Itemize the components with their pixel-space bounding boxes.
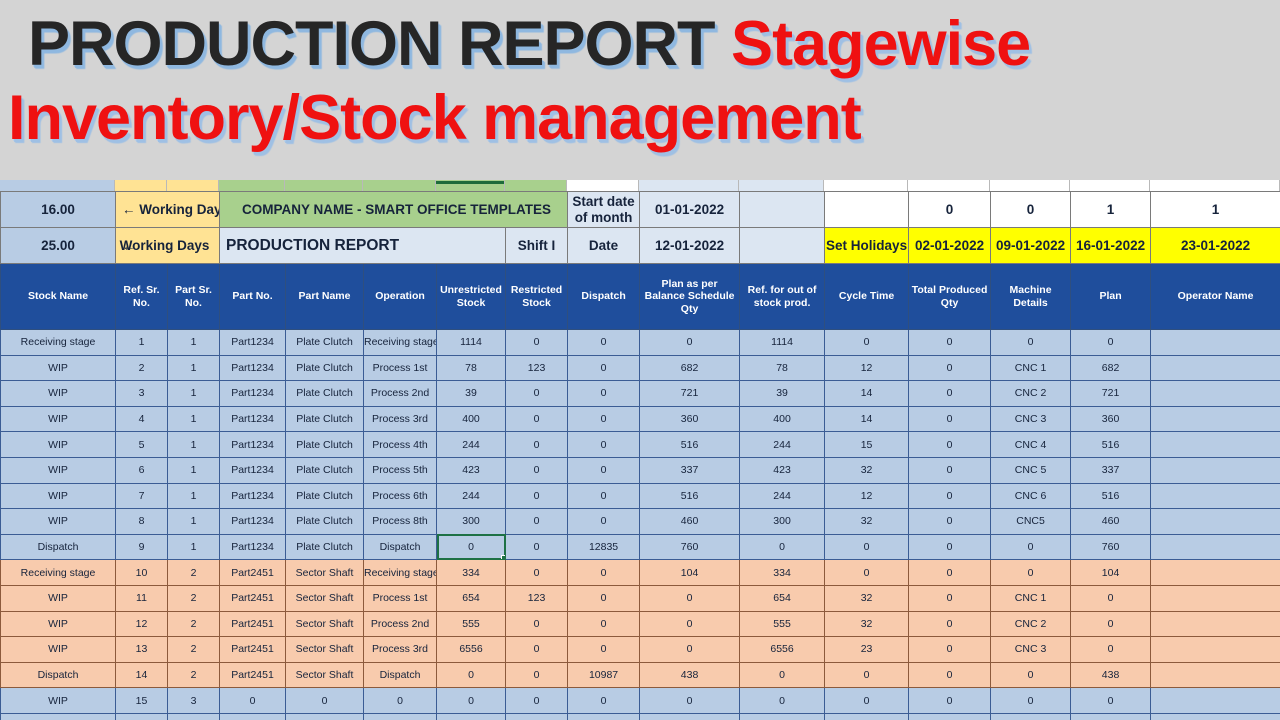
cell-1-11[interactable]: 12 [825,355,909,381]
cell-3-9[interactable]: 360 [640,406,740,432]
cell-12-2[interactable]: 2 [168,637,220,663]
cell-1-0[interactable]: WIP [1,355,116,381]
cell-3-1[interactable]: 4 [116,406,168,432]
cell-6-11[interactable]: 12 [825,483,909,509]
cell-6-5[interactable]: Process 6th [364,483,437,509]
cell-6-6[interactable]: 244 [437,483,506,509]
info1-cycle-blank[interactable] [825,192,909,228]
cell-14-8[interactable]: 0 [568,688,640,714]
cell-5-14[interactable]: 337 [1071,457,1151,483]
table-row[interactable]: WIP81Part1234Plate ClutchProcess 8th3000… [1,509,1280,535]
cell-4-0[interactable]: WIP [1,432,116,458]
cell-7-7[interactable]: 0 [506,509,568,535]
cell-14-4[interactable]: 0 [286,688,364,714]
spreadsheet-area[interactable]: 16.00 ← Working Days Left COMPANY NAME -… [0,180,1280,720]
cell-9-3[interactable]: Part2451 [220,560,286,586]
column-header-ref-sr-no[interactable]: Ref. Sr. No. [116,264,168,330]
cell-11-14[interactable]: 0 [1071,611,1151,637]
cell-11-6[interactable]: 555 [437,611,506,637]
cell-7-14[interactable]: 460 [1071,509,1151,535]
cell-3-5[interactable]: Process 3rd [364,406,437,432]
cell-6-14[interactable]: 516 [1071,483,1151,509]
holiday-count-1[interactable]: 0 [909,192,991,228]
cell-9-14[interactable]: 104 [1071,560,1151,586]
production-report-table[interactable]: 16.00 ← Working Days Left COMPANY NAME -… [0,191,1280,720]
column-header-operator-name[interactable]: Operator Name [1151,264,1280,330]
cell-13-14[interactable]: 438 [1071,662,1151,688]
cell-15-7[interactable]: 0 [506,713,568,720]
cell-13-11[interactable]: 0 [825,662,909,688]
column-header-total-produced-qty[interactable]: Total Produced Qty [909,264,991,330]
cell-15-6[interactable]: 0 [437,713,506,720]
cell-14-2[interactable]: 3 [168,688,220,714]
table-row[interactable]: WIP153000000000000 [1,688,1280,714]
cell-15-10[interactable]: 0 [740,713,825,720]
cell-0-7[interactable]: 0 [506,330,568,356]
cell-2-12[interactable]: 0 [909,381,991,407]
cell-3-11[interactable]: 14 [825,406,909,432]
column-header-plan-as-per-balance-schedule-qty[interactable]: Plan as per Balance Schedule Qty [640,264,740,330]
holiday-count-4[interactable]: 1 [1151,192,1280,228]
cell-0-2[interactable]: 1 [168,330,220,356]
cell-12-1[interactable]: 13 [116,637,168,663]
cell-4-8[interactable]: 0 [568,432,640,458]
cell-9-5[interactable]: Receiving stage [364,560,437,586]
cell-5-10[interactable]: 423 [740,457,825,483]
cell-10-8[interactable]: 0 [568,585,640,611]
cell-9-6[interactable]: 334 [437,560,506,586]
cell-5-7[interactable]: 0 [506,457,568,483]
cell-7-11[interactable]: 32 [825,509,909,535]
cell-8-5[interactable]: Dispatch [364,534,437,560]
cell-8-10[interactable]: 0 [740,534,825,560]
cell-1-12[interactable]: 0 [909,355,991,381]
table-row[interactable]: WIP31Part1234Plate ClutchProcess 2nd3900… [1,381,1280,407]
cell-1-4[interactable]: Plate Clutch [286,355,364,381]
cell-1-3[interactable]: Part1234 [220,355,286,381]
cell-12-10[interactable]: 6556 [740,637,825,663]
cell-3-2[interactable]: 1 [168,406,220,432]
cell-4-10[interactable]: 244 [740,432,825,458]
column-header-stock-name[interactable]: Stock Name [1,264,116,330]
cell-10-10[interactable]: 654 [740,585,825,611]
holiday-count-3[interactable]: 1 [1071,192,1151,228]
table-row[interactable]: WIP51Part1234Plate ClutchProcess 4th2440… [1,432,1280,458]
working-days-left-value[interactable]: 16.00 [1,192,116,228]
column-header-part-sr-no[interactable]: Part Sr. No. [168,264,220,330]
table-row[interactable]: WIP41Part1234Plate ClutchProcess 3rd4000… [1,406,1280,432]
cell-7-5[interactable]: Process 8th [364,509,437,535]
cell-2-7[interactable]: 0 [506,381,568,407]
cell-13-3[interactable]: Part2451 [220,662,286,688]
cell-1-15[interactable] [1151,355,1280,381]
start-date-value[interactable]: 01-01-2022 [640,192,740,228]
cell-0-13[interactable]: 0 [991,330,1071,356]
cell-10-7[interactable]: 123 [506,585,568,611]
cell-1-2[interactable]: 1 [168,355,220,381]
cell-5-12[interactable]: 0 [909,457,991,483]
cell-11-5[interactable]: Process 2nd [364,611,437,637]
cell-2-0[interactable]: WIP [1,381,116,407]
cell-8-14[interactable]: 760 [1071,534,1151,560]
cell-15-12[interactable]: 0 [909,713,991,720]
cell-5-5[interactable]: Process 5th [364,457,437,483]
cell-5-1[interactable]: 6 [116,457,168,483]
cell-3-7[interactable]: 0 [506,406,568,432]
set-holidays-label[interactable]: Set Holidays [825,228,909,264]
cell-1-5[interactable]: Process 1st [364,355,437,381]
cell-15-8[interactable]: 0 [568,713,640,720]
cell-0-3[interactable]: Part1234 [220,330,286,356]
cell-10-12[interactable]: 0 [909,585,991,611]
cell-4-5[interactable]: Process 4th [364,432,437,458]
cell-9-11[interactable]: 0 [825,560,909,586]
cell-13-1[interactable]: 14 [116,662,168,688]
column-header-ref-for-out-of-stock-prod[interactable]: Ref. for out of stock prod. [740,264,825,330]
cell-4-2[interactable]: 1 [168,432,220,458]
cell-15-2[interactable]: 3 [168,713,220,720]
cell-11-3[interactable]: Part2451 [220,611,286,637]
table-row[interactable]: WIP71Part1234Plate ClutchProcess 6th2440… [1,483,1280,509]
cell-3-6[interactable]: 400 [437,406,506,432]
cell-4-14[interactable]: 516 [1071,432,1151,458]
cell-8-2[interactable]: 1 [168,534,220,560]
cell-8-0[interactable]: Dispatch [1,534,116,560]
cell-1-6[interactable]: 78 [437,355,506,381]
cell-2-2[interactable]: 1 [168,381,220,407]
cell-1-13[interactable]: CNC 1 [991,355,1071,381]
cell-11-15[interactable] [1151,611,1280,637]
cell-5-8[interactable]: 0 [568,457,640,483]
cell-6-15[interactable] [1151,483,1280,509]
cell-7-1[interactable]: 8 [116,509,168,535]
cell-3-4[interactable]: Plate Clutch [286,406,364,432]
table-body[interactable]: Receiving stage11Part1234Plate ClutchRec… [1,330,1280,720]
cell-9-8[interactable]: 0 [568,560,640,586]
cell-15-4[interactable]: 0 [286,713,364,720]
cell-7-4[interactable]: Plate Clutch [286,509,364,535]
cell-7-15[interactable] [1151,509,1280,535]
cell-11-10[interactable]: 555 [740,611,825,637]
cell-12-8[interactable]: 0 [568,637,640,663]
cell-10-0[interactable]: WIP [1,585,116,611]
cell-2-10[interactable]: 39 [740,381,825,407]
info2-ref-blank[interactable] [740,228,825,264]
cell-12-7[interactable]: 0 [506,637,568,663]
cell-9-7[interactable]: 0 [506,560,568,586]
holiday-date-2[interactable]: 09-01-2022 [991,228,1071,264]
cell-13-12[interactable]: 0 [909,662,991,688]
cell-5-4[interactable]: Plate Clutch [286,457,364,483]
cell-6-9[interactable]: 516 [640,483,740,509]
cell-3-13[interactable]: CNC 3 [991,406,1071,432]
cell-1-10[interactable]: 78 [740,355,825,381]
cell-0-12[interactable]: 0 [909,330,991,356]
info1-ref-blank[interactable] [740,192,825,228]
cell-10-5[interactable]: Process 1st [364,585,437,611]
cell-11-13[interactable]: CNC 2 [991,611,1071,637]
column-header-cycle-time[interactable]: Cycle Time [825,264,909,330]
cell-8-13[interactable]: 0 [991,534,1071,560]
cell-12-4[interactable]: Sector Shaft [286,637,364,663]
cell-0-4[interactable]: Plate Clutch [286,330,364,356]
cell-4-9[interactable]: 516 [640,432,740,458]
cell-1-1[interactable]: 2 [116,355,168,381]
cell-2-14[interactable]: 721 [1071,381,1151,407]
holiday-date-4[interactable]: 23-01-2022 [1151,228,1280,264]
column-header-machine-details[interactable]: Machine Details [991,264,1071,330]
company-name-cell[interactable]: COMPANY NAME - SMART OFFICE TEMPLATES [220,192,568,228]
cell-14-0[interactable]: WIP [1,688,116,714]
cell-8-7[interactable]: 0 [506,534,568,560]
cell-14-1[interactable]: 15 [116,688,168,714]
cell-0-5[interactable]: Receiving stage [364,330,437,356]
cell-10-1[interactable]: 11 [116,585,168,611]
cell-4-6[interactable]: 244 [437,432,506,458]
cell-7-8[interactable]: 0 [568,509,640,535]
cell-4-15[interactable] [1151,432,1280,458]
cell-9-1[interactable]: 10 [116,560,168,586]
cell-10-11[interactable]: 32 [825,585,909,611]
cell-7-2[interactable]: 1 [168,509,220,535]
report-title-cell[interactable]: PRODUCTION REPORT [220,228,506,264]
cell-12-12[interactable]: 0 [909,637,991,663]
cell-6-10[interactable]: 244 [740,483,825,509]
cell-11-2[interactable]: 2 [168,611,220,637]
cell-14-10[interactable]: 0 [740,688,825,714]
shift-cell[interactable]: Shift I [506,228,568,264]
cell-11-4[interactable]: Sector Shaft [286,611,364,637]
column-header-unrestricted-stock[interactable]: Unrestricted Stock [437,264,506,330]
cell-4-11[interactable]: 15 [825,432,909,458]
column-header-dispatch[interactable]: Dispatch [568,264,640,330]
cell-5-13[interactable]: CNC 5 [991,457,1071,483]
cell-5-15[interactable] [1151,457,1280,483]
cell-10-9[interactable]: 0 [640,585,740,611]
cell-13-2[interactable]: 2 [168,662,220,688]
cell-2-9[interactable]: 721 [640,381,740,407]
cell-14-15[interactable] [1151,688,1280,714]
cell-4-13[interactable]: CNC 4 [991,432,1071,458]
cell-15-14[interactable]: 0 [1071,713,1151,720]
table-row[interactable]: WIP21Part1234Plate ClutchProcess 1st7812… [1,355,1280,381]
cell-10-3[interactable]: Part2451 [220,585,286,611]
holiday-count-2[interactable]: 0 [991,192,1071,228]
cell-5-2[interactable]: 1 [168,457,220,483]
cell-13-4[interactable]: Sector Shaft [286,662,364,688]
cell-14-11[interactable]: 0 [825,688,909,714]
cell-11-7[interactable]: 0 [506,611,568,637]
cell-7-13[interactable]: CNC5 [991,509,1071,535]
cell-1-8[interactable]: 0 [568,355,640,381]
cell-2-6[interactable]: 39 [437,381,506,407]
cell-11-8[interactable]: 0 [568,611,640,637]
holiday-date-3[interactable]: 16-01-2022 [1071,228,1151,264]
table-row[interactable]: Dispatch91Part1234Plate ClutchDispatch00… [1,534,1280,560]
cell-12-11[interactable]: 23 [825,637,909,663]
cell-6-1[interactable]: 7 [116,483,168,509]
cell-3-10[interactable]: 400 [740,406,825,432]
cell-0-0[interactable]: Receiving stage [1,330,116,356]
cell-11-9[interactable]: 0 [640,611,740,637]
cell-9-0[interactable]: Receiving stage [1,560,116,586]
cell-0-8[interactable]: 0 [568,330,640,356]
cell-6-12[interactable]: 0 [909,483,991,509]
cell-4-7[interactable]: 0 [506,432,568,458]
cell-9-12[interactable]: 0 [909,560,991,586]
cell-1-9[interactable]: 682 [640,355,740,381]
cell-13-7[interactable]: 0 [506,662,568,688]
cell-12-3[interactable]: Part2451 [220,637,286,663]
cell-9-2[interactable]: 2 [168,560,220,586]
cell-11-0[interactable]: WIP [1,611,116,637]
table-row[interactable]: Dispatch142Part2451Sector ShaftDispatch0… [1,662,1280,688]
column-header-restricted-stock[interactable]: Restricted Stock [506,264,568,330]
cell-3-15[interactable] [1151,406,1280,432]
cell-14-12[interactable]: 0 [909,688,991,714]
cell-14-13[interactable]: 0 [991,688,1071,714]
cell-7-3[interactable]: Part1234 [220,509,286,535]
cell-15-9[interactable]: 0 [640,713,740,720]
cell-10-2[interactable]: 2 [168,585,220,611]
cell-15-0[interactable]: WIP [1,713,116,720]
cell-15-15[interactable] [1151,713,1280,720]
cell-9-4[interactable]: Sector Shaft [286,560,364,586]
cell-14-14[interactable]: 0 [1071,688,1151,714]
cell-8-9[interactable]: 760 [640,534,740,560]
cell-1-7[interactable]: 123 [506,355,568,381]
cell-0-1[interactable]: 1 [116,330,168,356]
cell-4-12[interactable]: 0 [909,432,991,458]
cell-13-10[interactable]: 0 [740,662,825,688]
cell-9-13[interactable]: 0 [991,560,1071,586]
cell-13-8[interactable]: 10987 [568,662,640,688]
cell-15-1[interactable]: 16 [116,713,168,720]
cell-2-8[interactable]: 0 [568,381,640,407]
table-row[interactable]: WIP112Part2451Sector ShaftProcess 1st654… [1,585,1280,611]
cell-12-0[interactable]: WIP [1,637,116,663]
cell-15-3[interactable]: 0 [220,713,286,720]
cell-12-14[interactable]: 0 [1071,637,1151,663]
table-row[interactable]: WIP61Part1234Plate ClutchProcess 5th4230… [1,457,1280,483]
cell-7-10[interactable]: 300 [740,509,825,535]
cell-2-5[interactable]: Process 2nd [364,381,437,407]
cell-1-14[interactable]: 682 [1071,355,1151,381]
cell-0-15[interactable] [1151,330,1280,356]
cell-5-11[interactable]: 32 [825,457,909,483]
cell-6-2[interactable]: 1 [168,483,220,509]
cell-10-6[interactable]: 654 [437,585,506,611]
cell-8-4[interactable]: Plate Clutch [286,534,364,560]
selected-cell[interactable]: 0 [437,534,506,560]
cell-8-11[interactable]: 0 [825,534,909,560]
cell-10-14[interactable]: 0 [1071,585,1151,611]
cell-2-11[interactable]: 14 [825,381,909,407]
cell-8-8[interactable]: 12835 [568,534,640,560]
cell-2-13[interactable]: CNC 2 [991,381,1071,407]
cell-4-4[interactable]: Plate Clutch [286,432,364,458]
cell-11-11[interactable]: 32 [825,611,909,637]
cell-12-9[interactable]: 0 [640,637,740,663]
cell-10-4[interactable]: Sector Shaft [286,585,364,611]
cell-6-4[interactable]: Plate Clutch [286,483,364,509]
cell-13-13[interactable]: 0 [991,662,1071,688]
date-value[interactable]: 12-01-2022 [640,228,740,264]
cell-0-9[interactable]: 0 [640,330,740,356]
cell-9-15[interactable] [1151,560,1280,586]
column-header-operation[interactable]: Operation [364,264,437,330]
cell-5-0[interactable]: WIP [1,457,116,483]
holiday-date-1[interactable]: 02-01-2022 [909,228,991,264]
cell-8-1[interactable]: 9 [116,534,168,560]
cell-15-11[interactable]: 0 [825,713,909,720]
cell-5-3[interactable]: Part1234 [220,457,286,483]
cell-0-14[interactable]: 0 [1071,330,1151,356]
column-header-plan[interactable]: Plan [1071,264,1151,330]
cell-3-12[interactable]: 0 [909,406,991,432]
cell-7-6[interactable]: 300 [437,509,506,535]
cell-3-14[interactable]: 360 [1071,406,1151,432]
cell-2-15[interactable] [1151,381,1280,407]
cell-15-13[interactable]: 0 [991,713,1071,720]
cell-0-10[interactable]: 1114 [740,330,825,356]
cell-3-8[interactable]: 0 [568,406,640,432]
cell-12-5[interactable]: Process 3rd [364,637,437,663]
cell-6-13[interactable]: CNC 6 [991,483,1071,509]
cell-0-11[interactable]: 0 [825,330,909,356]
cell-5-6[interactable]: 423 [437,457,506,483]
cell-10-13[interactable]: CNC 1 [991,585,1071,611]
cell-2-3[interactable]: Part1234 [220,381,286,407]
cell-14-5[interactable]: 0 [364,688,437,714]
table-row[interactable]: WIP163000000000000 [1,713,1280,720]
column-header-part-no[interactable]: Part No. [220,264,286,330]
cell-4-1[interactable]: 5 [116,432,168,458]
cell-13-15[interactable] [1151,662,1280,688]
cell-8-15[interactable] [1151,534,1280,560]
cell-10-15[interactable] [1151,585,1280,611]
column-header-part-name[interactable]: Part Name [286,264,364,330]
table-row[interactable]: Receiving stage102Part2451Sector ShaftRe… [1,560,1280,586]
cell-9-9[interactable]: 104 [640,560,740,586]
cell-13-9[interactable]: 438 [640,662,740,688]
cell-12-6[interactable]: 6556 [437,637,506,663]
cell-6-3[interactable]: Part1234 [220,483,286,509]
cell-4-3[interactable]: Part1234 [220,432,286,458]
cell-8-12[interactable]: 0 [909,534,991,560]
cell-2-1[interactable]: 3 [116,381,168,407]
cell-7-12[interactable]: 0 [909,509,991,535]
cell-14-9[interactable]: 0 [640,688,740,714]
cell-13-5[interactable]: Dispatch [364,662,437,688]
working-days-value[interactable]: 25.00 [1,228,116,264]
cell-12-15[interactable] [1151,637,1280,663]
cell-6-7[interactable]: 0 [506,483,568,509]
cell-11-12[interactable]: 0 [909,611,991,637]
cell-6-0[interactable]: WIP [1,483,116,509]
cell-7-0[interactable]: WIP [1,509,116,535]
table-row[interactable]: WIP122Part2451Sector ShaftProcess 2nd555… [1,611,1280,637]
cell-5-9[interactable]: 337 [640,457,740,483]
cell-15-5[interactable]: 0 [364,713,437,720]
cell-3-0[interactable]: WIP [1,406,116,432]
cell-11-1[interactable]: 12 [116,611,168,637]
cell-3-3[interactable]: Part1234 [220,406,286,432]
cell-0-6[interactable]: 1114 [437,330,506,356]
table-row[interactable]: Receiving stage11Part1234Plate ClutchRec… [1,330,1280,356]
cell-12-13[interactable]: CNC 3 [991,637,1071,663]
cell-9-10[interactable]: 334 [740,560,825,586]
